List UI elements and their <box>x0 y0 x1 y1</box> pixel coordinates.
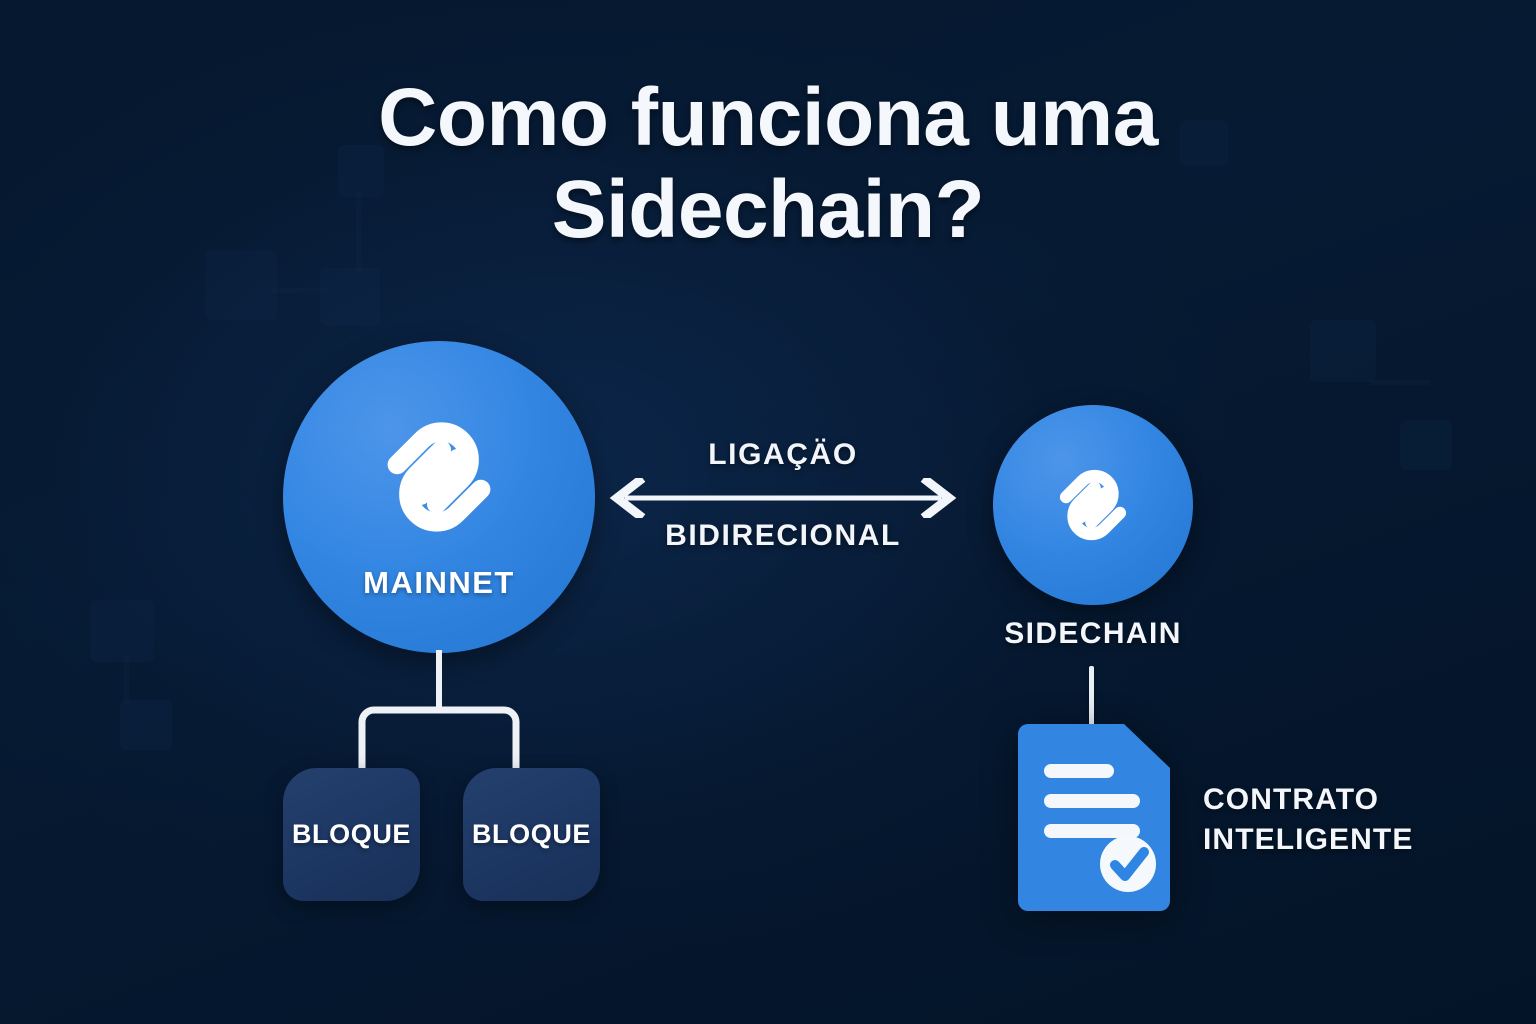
block-label: BLOQUE <box>292 819 411 850</box>
watermark-box <box>1400 420 1452 470</box>
sidechain-label: SIDECHAIN <box>993 617 1193 651</box>
mainnet-node[interactable]: MAINNET <box>283 341 595 653</box>
mainnet-label: MAINNET <box>283 565 595 601</box>
chain-link-icon <box>1037 449 1149 561</box>
page-title: Como funciona uma Sidechain? <box>0 72 1536 256</box>
watermark-connector <box>1370 380 1430 385</box>
sidechain-node[interactable] <box>993 405 1193 605</box>
block-box[interactable]: BLOQUE <box>463 768 600 901</box>
watermark-box <box>120 700 172 750</box>
contract-label-line-2: INTELIGENTE <box>1203 820 1413 860</box>
mainnet-blocks-connector <box>280 650 610 775</box>
title-line-2: Sidechain? <box>0 164 1536 256</box>
document-text-line <box>1044 764 1114 778</box>
bidirectional-arrow-icon <box>603 478 963 518</box>
connection-label-top: LIGAÇÄO <box>603 438 963 472</box>
watermark-connector <box>272 288 328 293</box>
check-badge <box>1100 836 1156 892</box>
connection-label-bottom: BIDIRECIONAL <box>583 519 983 553</box>
contract-label: CONTRATO INTELIGENTE <box>1203 780 1413 860</box>
watermark-box <box>205 250 277 320</box>
block-label: BLOQUE <box>472 819 591 850</box>
infographic-canvas: Como funciona uma Sidechain? MAINNET SID… <box>0 0 1536 1024</box>
watermark-box <box>320 268 380 326</box>
title-line-1: Como funciona uma <box>378 72 1158 163</box>
watermark-box <box>90 600 154 662</box>
watermark-box <box>1310 320 1376 382</box>
document-check-icon[interactable] <box>1018 724 1170 911</box>
chain-link-icon <box>352 390 526 564</box>
document-text-line <box>1044 824 1140 838</box>
block-box[interactable]: BLOQUE <box>283 768 420 901</box>
contract-label-line-1: CONTRATO <box>1203 780 1413 820</box>
document-text-line <box>1044 794 1140 808</box>
watermark-connector <box>124 655 129 705</box>
sidechain-contract-connector <box>1089 666 1094 728</box>
